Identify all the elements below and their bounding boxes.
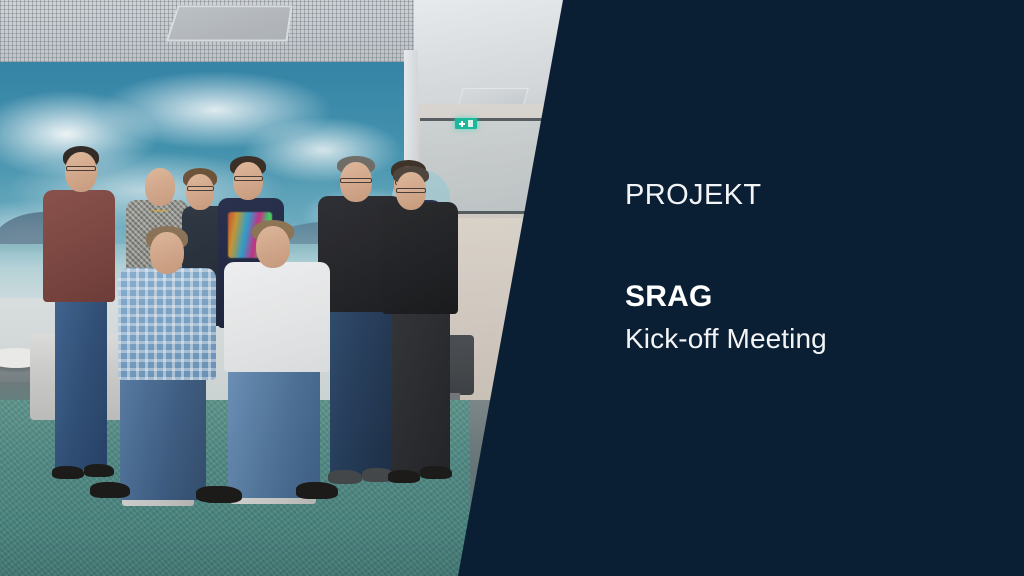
person-torso (224, 262, 330, 372)
person-shoe (328, 470, 362, 484)
person-legs (120, 360, 206, 500)
person-head (145, 168, 175, 206)
presentation-slide: PROJEKT SRAG Kick-off Meeting (0, 0, 1024, 576)
slide-subtitle: Kick-off Meeting (625, 322, 965, 356)
slide-title: SRAG (625, 280, 965, 315)
person-legs (228, 356, 320, 498)
eyeglasses-icon (340, 178, 372, 183)
person-shoe (84, 464, 114, 477)
person-head (150, 232, 184, 274)
person-shoe (90, 482, 130, 498)
person-shoe (296, 482, 338, 499)
person-legs (55, 288, 107, 470)
person-head (186, 174, 214, 210)
person-torso (118, 268, 216, 380)
first-aid-sign (455, 118, 477, 129)
person-torso (43, 190, 115, 302)
slide-text-block: PROJEKT SRAG Kick-off Meeting (625, 180, 965, 356)
person-shoe (420, 466, 452, 479)
person-torso (382, 202, 458, 314)
eyeglasses-icon (66, 166, 96, 171)
person-shoe (200, 486, 242, 503)
necklace (151, 206, 169, 212)
eyeglasses-icon (234, 176, 263, 181)
slide-kicker: PROJEKT (625, 180, 965, 212)
ceiling-light-panel (166, 6, 293, 42)
person-shoe (52, 466, 84, 479)
person-legs (330, 292, 392, 478)
person-shoe (388, 470, 420, 483)
eyeglasses-icon (187, 186, 214, 191)
person-head (256, 226, 290, 268)
person-head (233, 162, 263, 200)
person-head (65, 152, 97, 192)
eyeglasses-icon (396, 188, 426, 193)
person-legs (392, 296, 450, 476)
